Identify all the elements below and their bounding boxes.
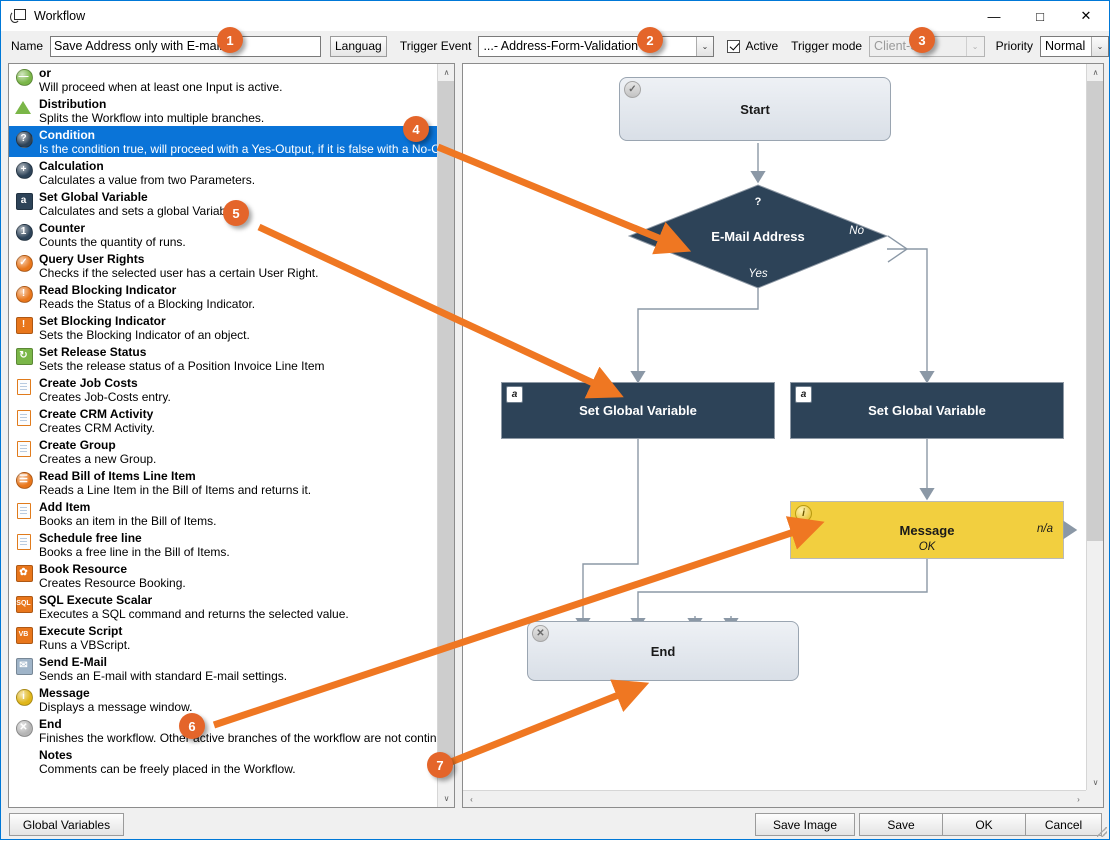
query-user-rights-icon: ✓ <box>15 254 33 272</box>
activity-palette-list[interactable]: —orWill proceed when at least one Input … <box>9 64 438 807</box>
palette-item[interactable]: ✓Query User RightsChecks if the selected… <box>9 250 438 281</box>
palette-item[interactable]: Schedule free lineBooks a free line in t… <box>9 529 438 560</box>
palette-item-description: Is the condition true, will proceed with… <box>39 142 438 156</box>
callout-5: 5 <box>223 200 249 226</box>
node-message[interactable]: i Message n/a OK <box>790 501 1064 559</box>
palette-item-description: Creates CRM Activity. <box>39 421 438 435</box>
message-na-port-label: n/a <box>1037 523 1053 535</box>
node-start-label: Start <box>740 102 770 117</box>
callout-3: 3 <box>909 27 935 53</box>
canvas-vscroll-thumb[interactable] <box>1087 81 1104 541</box>
palette-item-title: Condition <box>39 128 438 142</box>
scroll-down-button[interactable]: ∨ <box>1087 774 1104 791</box>
palette-item-description: Sends an E-mail with standard E-mail set… <box>39 669 438 683</box>
message-node-icon: i <box>795 505 812 522</box>
condition-yes-port-label: Yes <box>748 268 767 280</box>
checkmark-icon <box>727 40 740 53</box>
palette-item[interactable]: iMessageDisplays a message window. <box>9 684 438 715</box>
active-checkbox[interactable]: Active <box>727 39 778 53</box>
scroll-down-button[interactable]: ∨ <box>438 790 455 807</box>
workflow-canvas[interactable]: ✓ Start ? E-Mail Address No Yes a <box>463 64 1087 791</box>
palette-item-description: Reads the Status of a Blocking Indicator… <box>39 297 438 311</box>
palette-item-description: Executes a SQL command and returns the s… <box>39 607 438 621</box>
palette-item-title: Send E-Mail <box>39 655 438 669</box>
palette-item-title: Schedule free line <box>39 531 438 545</box>
canvas-vertical-scrollbar[interactable]: ∧ ∨ <box>1086 64 1103 791</box>
palette-item-description: Runs a VBScript. <box>39 638 438 652</box>
palette-item-description: Creates Job-Costs entry. <box>39 390 438 404</box>
palette-item[interactable]: —orWill proceed when at least one Input … <box>9 64 438 95</box>
global-variables-button[interactable]: Global Variables <box>9 813 124 836</box>
chevron-down-icon: ⌄ <box>966 37 984 56</box>
active-label: Active <box>745 39 778 53</box>
set-global-variable-icon: a <box>15 192 33 210</box>
callout-1: 1 <box>217 27 243 53</box>
palette-item-title: Notes <box>39 748 438 762</box>
palette-item[interactable]: !Set Blocking IndicatorSets the Blocking… <box>9 312 438 343</box>
priority-label: Priority <box>996 39 1033 53</box>
palette-item-description: Creates Resource Booking. <box>39 576 438 590</box>
palette-item[interactable]: DistributionSplits the Workflow into mul… <box>9 95 438 126</box>
palette-item[interactable]: 1CounterCounts the quantity of runs. <box>9 219 438 250</box>
palette-item-title: Distribution <box>39 97 438 111</box>
palette-item-description: Calculates a value from two Parameters. <box>39 173 438 187</box>
add-item-icon <box>15 502 33 520</box>
palette-item-title: Create Job Costs <box>39 376 438 390</box>
trigger-event-value: ...- Address-Form-Validation <box>479 39 695 53</box>
name-label: Name <box>11 39 43 53</box>
palette-item[interactable]: SQLSQL Execute ScalarExecutes a SQL comm… <box>9 591 438 622</box>
scrollbar-corner <box>1086 790 1103 807</box>
palette-item[interactable]: NotesComments can be freely placed in th… <box>9 746 438 777</box>
book-resource-icon: ✿ <box>15 564 33 582</box>
set-global-variable-node-icon: a <box>506 386 523 403</box>
node-set-global-variable-left[interactable]: a Set Global Variable <box>501 382 775 439</box>
palette-item-description: Comments can be freely placed in the Wor… <box>39 762 438 776</box>
message-icon: i <box>15 688 33 706</box>
palette-item-description: Checks if the selected user has a certai… <box>39 266 438 280</box>
set-release-status-icon: ↻ <box>15 347 33 365</box>
trigger-mode-label: Trigger mode <box>791 39 862 53</box>
minimize-button[interactable]: — <box>971 1 1017 31</box>
palette-item[interactable]: ?ConditionIs the condition true, will pr… <box>9 126 438 157</box>
save-image-button[interactable]: Save Image <box>755 813 855 836</box>
palette-item-description: Finishes the workflow. Other active bran… <box>39 731 438 745</box>
schedule-free-line-icon <box>15 533 33 551</box>
palette-item-title: End <box>39 717 438 731</box>
language-button[interactable]: Languag <box>330 36 387 57</box>
node-message-label: Message <box>900 523 955 538</box>
palette-item[interactable]: ✉Send E-MailSends an E-mail with standar… <box>9 653 438 684</box>
chevron-down-icon[interactable]: ⌄ <box>1091 37 1108 56</box>
node-set-global-variable-right[interactable]: a Set Global Variable <box>790 382 1064 439</box>
palette-item[interactable]: Create GroupCreates a new Group. <box>9 436 438 467</box>
palette-item-title: Read Bill of Items Line Item <box>39 469 438 483</box>
callout-7: 7 <box>427 752 453 778</box>
palette-item[interactable]: ✕EndFinishes the workflow. Other active … <box>9 715 438 746</box>
palette-item-description: Displays a message window. <box>39 700 438 714</box>
palette-item-title: Set Release Status <box>39 345 438 359</box>
palette-item-description: Books a free line in the Bill of Items. <box>39 545 438 559</box>
node-set-global-variable-left-label: Set Global Variable <box>579 403 697 418</box>
ok-button[interactable]: OK <box>942 813 1026 836</box>
scroll-right-button[interactable]: › <box>1070 791 1087 808</box>
name-input[interactable] <box>50 36 321 57</box>
title-bar: Workflow — □ ✕ <box>1 1 1109 31</box>
scroll-up-button[interactable]: ∧ <box>1087 64 1104 81</box>
palette-item[interactable]: ☰Read Bill of Items Line ItemReads a Lin… <box>9 467 438 498</box>
priority-select[interactable]: Normal ⌄ <box>1040 36 1109 57</box>
create-crm-activity-icon <box>15 409 33 427</box>
palette-item[interactable]: +CalculationCalculates a value from two … <box>9 157 438 188</box>
workflow-window: Workflow — □ ✕ Name Languag Trigger Even… <box>0 0 1110 840</box>
scroll-left-button[interactable]: ‹ <box>463 791 480 808</box>
node-condition[interactable]: ? E-Mail Address No Yes <box>628 184 888 289</box>
palette-item-description: Sets the release status of a Position In… <box>39 359 438 373</box>
node-end[interactable]: ✕ End <box>527 621 799 681</box>
palette-item[interactable]: ↻Set Release StatusSets the release stat… <box>9 343 438 374</box>
close-button[interactable]: ✕ <box>1063 1 1109 31</box>
create-group-icon <box>15 440 33 458</box>
end-icon: ✕ <box>15 719 33 737</box>
priority-value: Normal <box>1041 39 1091 53</box>
palette-scroll-thumb[interactable] <box>438 81 455 761</box>
distribution-icon <box>15 99 33 117</box>
palette-item-description: Reads a Line Item in the Bill of Items a… <box>39 483 438 497</box>
palette-item-title: Add Item <box>39 500 438 514</box>
palette-item-description: Will proceed when at least one Input is … <box>39 80 438 94</box>
condition-node-icon: ? <box>755 196 762 208</box>
palette-item[interactable]: Create CRM ActivityCreates CRM Activity. <box>9 405 438 436</box>
callout-4: 4 <box>403 116 429 142</box>
callout-6: 6 <box>179 713 205 739</box>
node-start[interactable]: ✓ Start <box>619 77 891 141</box>
palette-item-description: Sets the Blocking Indicator of an object… <box>39 328 438 342</box>
palette-item[interactable]: !Read Blocking IndicatorReads the Status… <box>9 281 438 312</box>
set-blocking-indicator-icon: ! <box>15 316 33 334</box>
message-ok-port-label: OK <box>919 541 936 553</box>
callout-2: 2 <box>637 27 663 53</box>
palette-item-title: Read Blocking Indicator <box>39 283 438 297</box>
node-set-global-variable-right-label: Set Global Variable <box>868 403 986 418</box>
palette-item[interactable]: Create Job CostsCreates Job-Costs entry. <box>9 374 438 405</box>
cancel-button[interactable]: Cancel <box>1025 813 1102 836</box>
palette-item-title: Set Blocking Indicator <box>39 314 438 328</box>
save-button[interactable]: Save <box>859 813 943 836</box>
palette-item[interactable]: Add ItemBooks an item in the Bill of Ite… <box>9 498 438 529</box>
palette-item-description: Creates a new Group. <box>39 452 438 466</box>
node-end-label: End <box>651 644 676 659</box>
send-email-icon: ✉ <box>15 657 33 675</box>
window-controls: — □ ✕ <box>971 1 1109 31</box>
workflow-canvas-pane: ✓ Start ? E-Mail Address No Yes a <box>462 63 1104 808</box>
read-bill-of-items-line-item-icon: ☰ <box>15 471 33 489</box>
palette-item-title: Query User Rights <box>39 252 438 266</box>
resize-grip[interactable] <box>1097 827 1107 837</box>
palette-item[interactable]: ✿Book ResourceCreates Resource Booking. <box>9 560 438 591</box>
calculation-icon: + <box>15 161 33 179</box>
end-node-icon: ✕ <box>532 625 549 642</box>
read-blocking-indicator-icon: ! <box>15 285 33 303</box>
execute-script-icon: VB <box>15 626 33 644</box>
maximize-button[interactable]: □ <box>1017 1 1063 31</box>
scroll-up-button[interactable]: ∧ <box>438 64 455 81</box>
form-toolbar: Name Languag Trigger Event ...- Address-… <box>1 31 1109 61</box>
palette-item-title: Create Group <box>39 438 438 452</box>
palette-item-title: Create CRM Activity <box>39 407 438 421</box>
notes-icon <box>15 750 33 768</box>
palette-scrollbar[interactable]: ∧ ∨ <box>437 64 454 807</box>
palette-item[interactable]: VBExecute ScriptRuns a VBScript. <box>9 622 438 653</box>
workflow-window-icon <box>10 8 26 24</box>
start-node-icon: ✓ <box>624 81 641 98</box>
chevron-down-icon[interactable]: ⌄ <box>696 37 714 56</box>
palette-item-title: Calculation <box>39 159 438 173</box>
palette-item-title: Book Resource <box>39 562 438 576</box>
palette-item-title: SQL Execute Scalar <box>39 593 438 607</box>
canvas-horizontal-scrollbar[interactable]: ‹ › <box>463 790 1087 807</box>
activity-palette-pane: —orWill proceed when at least one Input … <box>8 63 455 808</box>
condition-icon: ? <box>15 130 33 148</box>
window-title: Workflow <box>34 9 85 23</box>
palette-item-description: Splits the Workflow into multiple branch… <box>39 111 438 125</box>
set-global-variable-node-icon: a <box>795 386 812 403</box>
create-job-costs-icon <box>15 378 33 396</box>
sql-execute-scalar-icon: SQL <box>15 595 33 613</box>
counter-icon: 1 <box>15 223 33 241</box>
trigger-event-select[interactable]: ...- Address-Form-Validation ⌄ <box>478 36 714 57</box>
palette-item-title: Message <box>39 686 438 700</box>
condition-no-port-label: No <box>849 225 864 237</box>
palette-item-description: Books an item in the Bill of Items. <box>39 514 438 528</box>
palette-item-title: Execute Script <box>39 624 438 638</box>
or-icon: — <box>15 68 33 86</box>
trigger-event-label: Trigger Event <box>400 39 472 53</box>
palette-item-description: Counts the quantity of runs. <box>39 235 438 249</box>
footer-bar: Global Variables Save Image Save OK Canc… <box>1 808 1109 839</box>
palette-item-title: or <box>39 66 438 80</box>
